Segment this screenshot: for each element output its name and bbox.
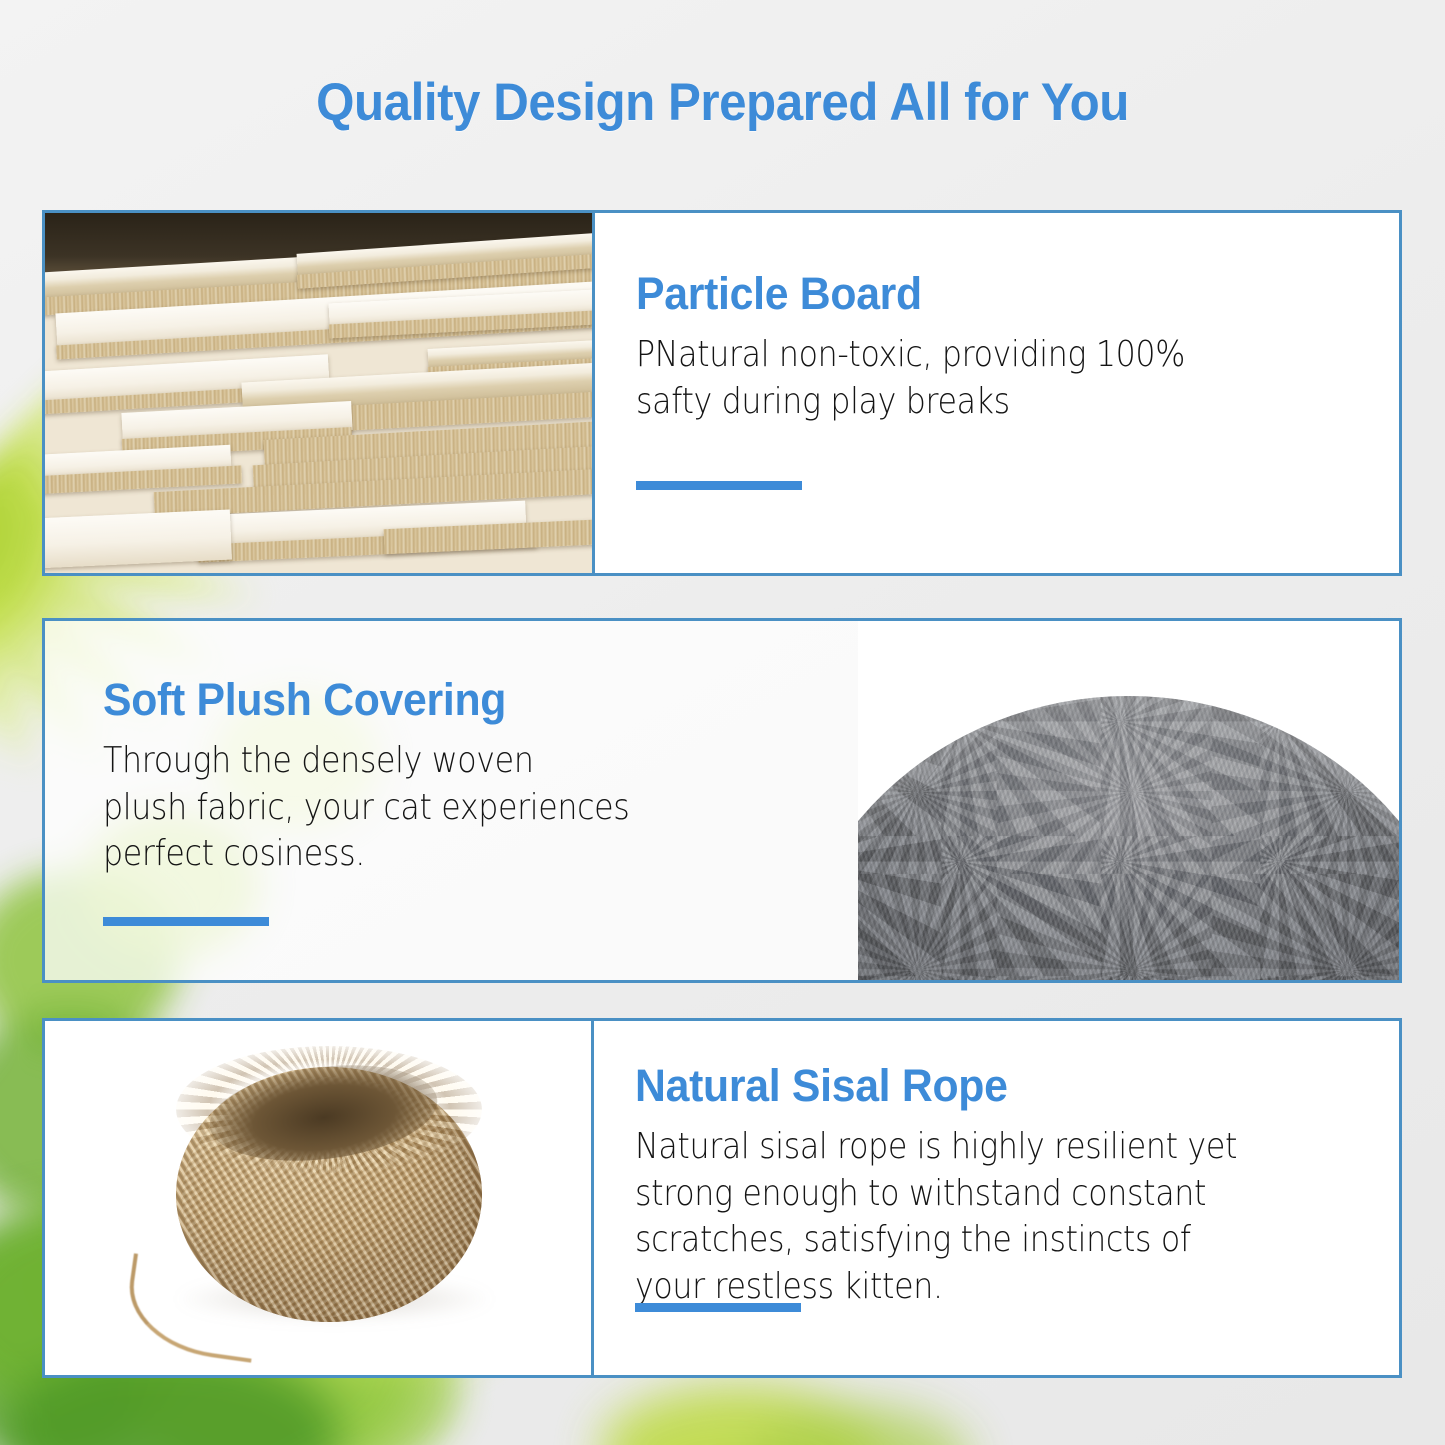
infographic-page: Quality Design Prepared All for You <box>0 0 1445 1445</box>
sisal-rope-photo <box>45 1021 591 1375</box>
feature-card-natural-sisal-rope: Natural Sisal Rope Natural sisal rope is… <box>42 1018 1402 1378</box>
particle-board-heading: Particle Board <box>636 271 1321 318</box>
sisal-rope-heading: Natural Sisal Rope <box>635 1063 1321 1110</box>
particle-board-text: Particle Board PNatural non-toxic, provi… <box>592 213 1399 573</box>
plush-fabric-photo <box>858 621 1399 980</box>
soft-plush-text: Soft Plush Covering Through the densely … <box>45 621 858 980</box>
sisal-rope-text: Natural Sisal Rope Natural sisal rope is… <box>591 1021 1399 1375</box>
soft-plush-heading: Soft Plush Covering <box>103 677 780 724</box>
feature-card-soft-plush-covering: Soft Plush Covering Through the densely … <box>42 618 1402 983</box>
sisal-rope-rule <box>635 1303 801 1312</box>
particle-board-photo <box>45 213 592 573</box>
soft-plush-rule <box>103 917 269 926</box>
particle-board-body: PNatural non-toxic, providing 100% safty… <box>636 332 1270 426</box>
soft-plush-body: Through the densely woven plush fabric, … <box>103 738 730 878</box>
sisal-rope-body: Natural sisal rope is highly resilient y… <box>635 1124 1270 1311</box>
feature-card-particle-board: Particle Board PNatural non-toxic, provi… <box>42 210 1402 576</box>
page-title: Quality Design Prepared All for You <box>51 72 1395 133</box>
bottom-right-foliage-decoration <box>600 1385 940 1445</box>
particle-board-rule <box>636 481 802 490</box>
